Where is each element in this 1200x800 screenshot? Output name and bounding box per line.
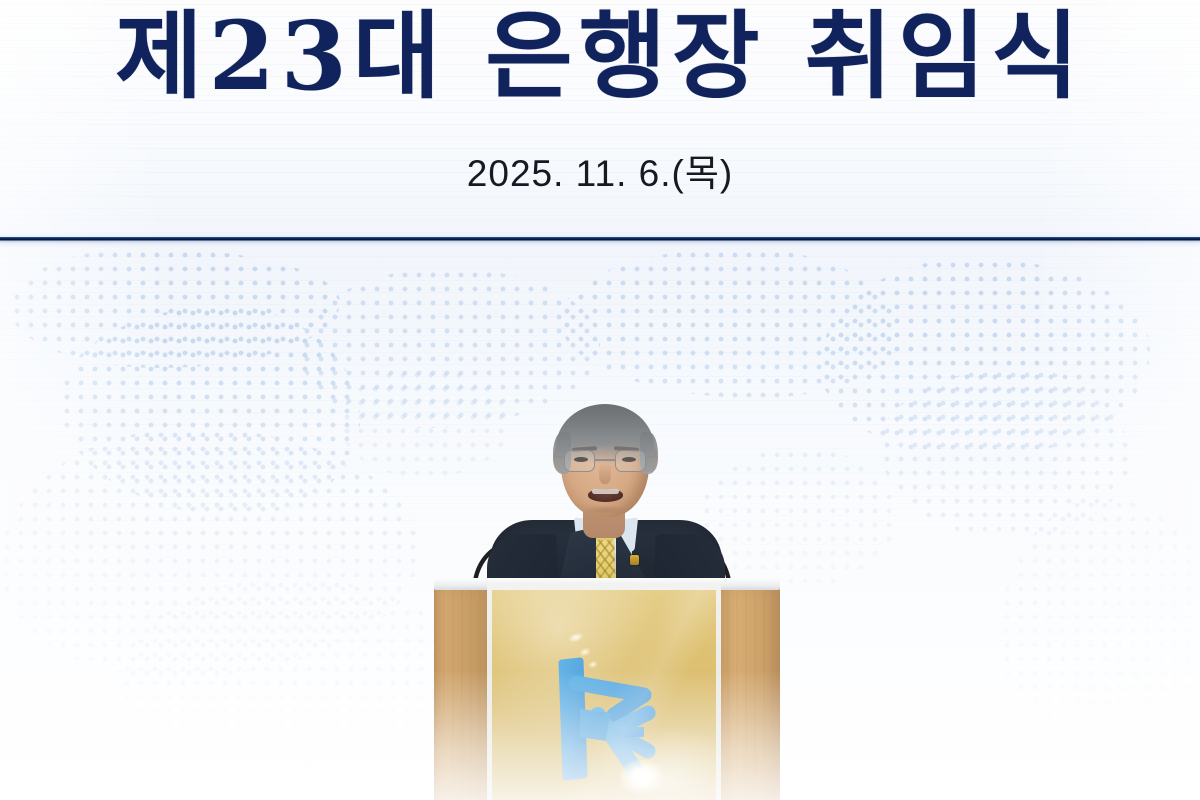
specular-highlight-main [620, 760, 664, 794]
podium [0, 0, 1200, 800]
presentation-screenshot: 제23대 은행장 취임식 2025. 11. 6.(목) [0, 0, 1200, 800]
podium-wood-panel-right [718, 587, 780, 800]
podium-wood-panel-left [434, 587, 490, 800]
